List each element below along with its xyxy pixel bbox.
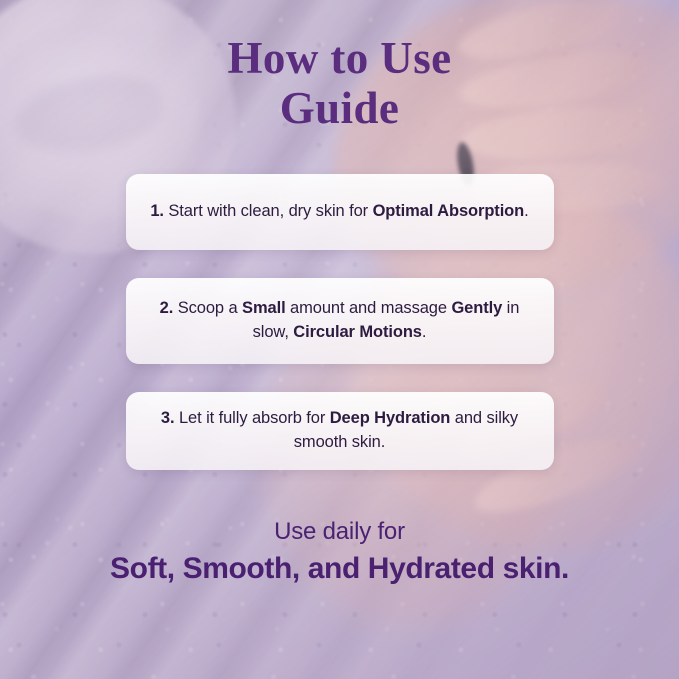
- step-body-2-d: .: [422, 323, 426, 341]
- step-card-2: 2. Scoop a Small amount and massage Gent…: [126, 278, 554, 364]
- step-card-3: 3. Let it fully absorb for Deep Hydratio…: [126, 392, 554, 470]
- step-emphasis-1: Optimal Absorption: [373, 202, 525, 220]
- step-text-3: 3. Let it fully absorb for Deep Hydratio…: [148, 407, 532, 454]
- step-emphasis-2-a: Small: [242, 299, 286, 317]
- step-emphasis-3: Deep Hydration: [330, 409, 451, 427]
- steps-list: 1. Start with clean, dry skin for Optima…: [0, 174, 679, 470]
- step-body-2-b: amount and massage: [286, 299, 452, 317]
- step-body-3-a: Let it fully absorb for: [174, 409, 329, 427]
- poster-content: How to Use Guide 1. Start with clean, dr…: [0, 0, 679, 679]
- step-body-1-a: Start with clean, dry skin for: [164, 202, 373, 220]
- footer-message: Use daily for Soft, Smooth, and Hydrated…: [0, 518, 679, 588]
- page-title-line-1: How to Use: [0, 36, 679, 82]
- step-card-1: 1. Start with clean, dry skin for Optima…: [126, 174, 554, 250]
- step-text-2: 2. Scoop a Small amount and massage Gent…: [148, 297, 532, 344]
- footer-line-1: Use daily for: [0, 518, 679, 546]
- how-to-use-guide-poster: How to Use Guide 1. Start with clean, dr…: [0, 0, 679, 679]
- step-number-2: 2.: [160, 299, 174, 317]
- step-text-1: 1. Start with clean, dry skin for Optima…: [150, 200, 528, 223]
- footer-line-2: Soft, Smooth, and Hydrated skin.: [0, 551, 679, 587]
- step-body-1-b: .: [524, 202, 528, 220]
- step-number-3: 3.: [161, 409, 175, 427]
- page-title-line-2: Guide: [0, 86, 679, 132]
- step-emphasis-2-c: Circular Motions: [293, 323, 422, 341]
- step-number-1: 1.: [150, 202, 164, 220]
- page-title: How to Use Guide: [0, 36, 679, 132]
- step-emphasis-2-b: Gently: [451, 299, 502, 317]
- step-body-2-a: Scoop a: [173, 299, 242, 317]
